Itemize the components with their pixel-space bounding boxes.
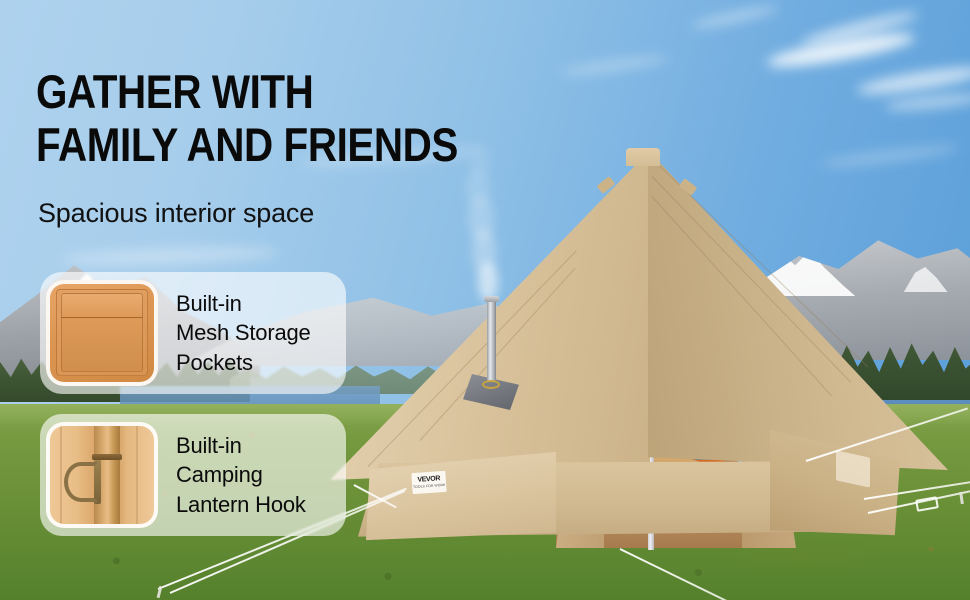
mesh-storage-pocket-thumbnail: [46, 280, 158, 386]
page-subtitle: Spacious interior space: [38, 198, 314, 229]
page-title: GATHER WITH FAMILY AND FRIENDS: [36, 66, 458, 171]
chimney-flashing-ring: [482, 380, 500, 389]
lantern-hook-icon: [64, 462, 98, 502]
feature-card-mesh-storage-pockets: Built-in Mesh Storage Pockets: [40, 272, 346, 394]
feature-card-label: Built-in Camping Lantern Hook: [176, 431, 306, 518]
canvas-fold: [136, 426, 138, 524]
brand-tag: VEVOR TOOLS FOR WORK: [411, 471, 446, 494]
chimney-cap: [484, 296, 499, 302]
feature-card-camping-lantern-hook: Built-in Camping Lantern Hook: [40, 414, 346, 536]
brand-tag-subtext: TOOLS FOR WORK: [413, 483, 446, 490]
canvas-fold: [60, 426, 62, 524]
guy-line: [620, 548, 734, 600]
lantern-hook-thumbnail: [46, 422, 158, 528]
feature-card-label: Built-in Mesh Storage Pockets: [176, 289, 311, 376]
product-banner: VEVOR TOOLS FOR WORK GATHER WITH FAMILY …: [0, 0, 970, 600]
stove-chimney-pipe: [487, 300, 496, 382]
tent-apex: [626, 148, 660, 166]
pocket-upper-flap: [61, 293, 143, 319]
pocket-lower-body: [61, 317, 143, 372]
guy-line-tensioner: [915, 496, 939, 512]
pocket-stitch-line: [61, 317, 143, 318]
